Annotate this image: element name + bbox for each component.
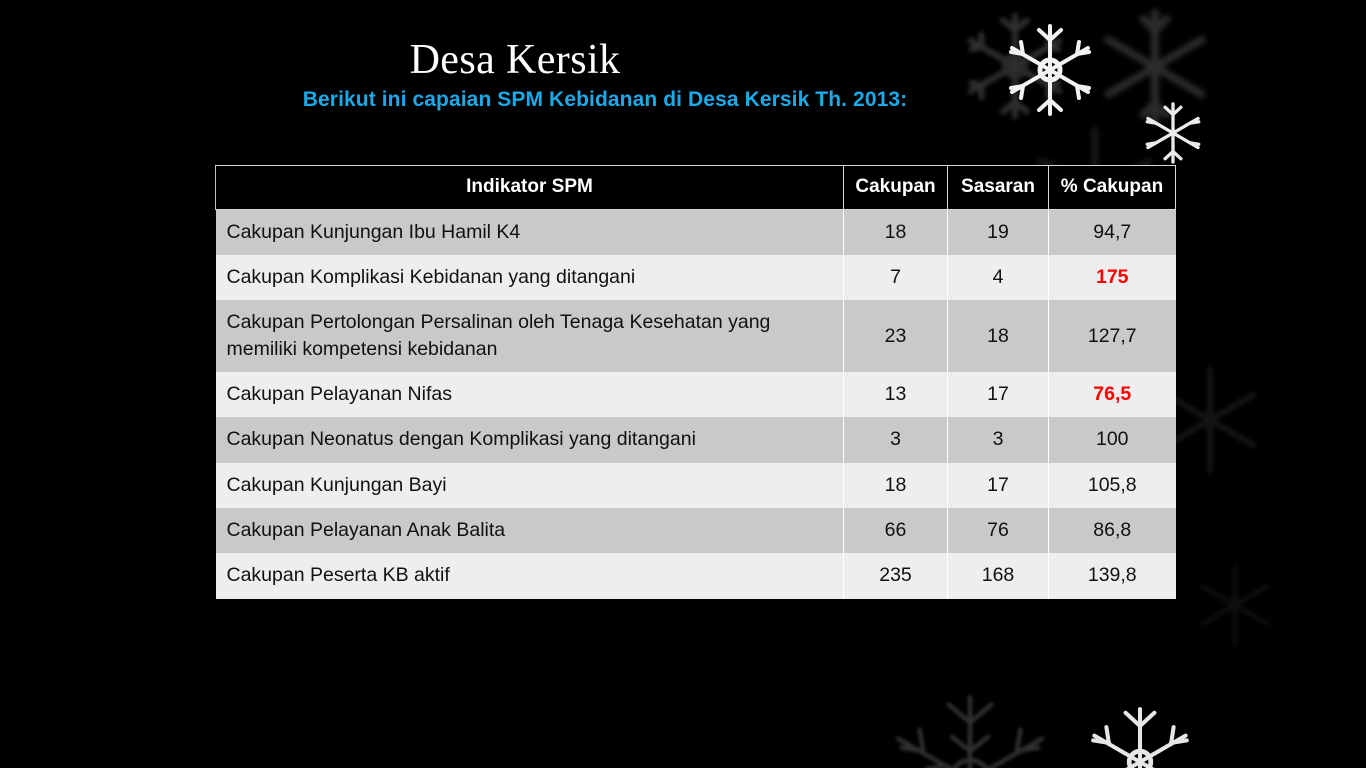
column-header-persen: % Cakupan — [1049, 166, 1176, 210]
cell-indikator: Cakupan Kunjungan Ibu Hamil K4 — [216, 209, 844, 255]
cell-sasaran: 3 — [948, 417, 1049, 462]
cell-sasaran: 18 — [948, 300, 1049, 372]
table-body: Cakupan Kunjungan Ibu Hamil K4181994,7Ca… — [216, 209, 1176, 598]
cell-cakupan: 18 — [844, 209, 948, 255]
cell-sasaran: 17 — [948, 463, 1049, 508]
table-row: Cakupan Kunjungan Ibu Hamil K4181994,7 — [216, 209, 1176, 255]
table-row: Cakupan Neonatus dengan Komplikasi yang … — [216, 417, 1176, 462]
table-row: Cakupan Peserta KB aktif235168139,8 — [216, 553, 1176, 598]
table-row: Cakupan Pelayanan Nifas131776,5 — [216, 372, 1176, 417]
cell-indikator: Cakupan Pelayanan Nifas — [216, 372, 844, 417]
cell-persen: 127,7 — [1049, 300, 1176, 372]
cell-sasaran: 4 — [948, 255, 1049, 300]
cell-persen: 76,5 — [1049, 372, 1176, 417]
cell-indikator: Cakupan Pelayanan Anak Balita — [216, 508, 844, 553]
spm-table: Indikator SPM Cakupan Sasaran % Cakupan … — [215, 165, 1176, 599]
cell-cakupan: 18 — [844, 463, 948, 508]
cell-cakupan: 66 — [844, 508, 948, 553]
cell-cakupan: 7 — [844, 255, 948, 300]
table-row: Cakupan Pertolongan Persalinan oleh Tena… — [216, 300, 1176, 372]
title-block: Desa Kersik Berikut ini capaian SPM Kebi… — [215, 38, 1175, 112]
cell-indikator: Cakupan Kunjungan Bayi — [216, 463, 844, 508]
cell-cakupan: 3 — [844, 417, 948, 462]
column-header-cakupan: Cakupan — [844, 166, 948, 210]
table-header-row: Indikator SPM Cakupan Sasaran % Cakupan — [216, 166, 1176, 210]
slide-canvas: Desa Kersik Berikut ini capaian SPM Kebi… — [0, 0, 1366, 768]
cell-sasaran: 17 — [948, 372, 1049, 417]
snowflake-icon — [880, 690, 1060, 768]
cell-persen: 105,8 — [1049, 463, 1176, 508]
page-subtitle: Berikut ini capaian SPM Kebidanan di Des… — [215, 88, 1175, 112]
cell-indikator: Cakupan Peserta KB aktif — [216, 553, 844, 598]
column-header-sasaran: Sasaran — [948, 166, 1049, 210]
snowflake-icon — [1190, 560, 1280, 650]
value-alert: 76,5 — [1093, 383, 1131, 405]
cell-cakupan: 23 — [844, 300, 948, 372]
value-alert: 175 — [1096, 266, 1129, 288]
cell-persen: 100 — [1049, 417, 1176, 462]
cell-cakupan: 235 — [844, 553, 948, 598]
cell-persen: 139,8 — [1049, 553, 1176, 598]
spm-table-container: Indikator SPM Cakupan Sasaran % Cakupan … — [215, 165, 1175, 599]
table-row: Cakupan Pelayanan Anak Balita667686,8 — [216, 508, 1176, 553]
cell-indikator: Cakupan Komplikasi Kebidanan yang ditang… — [216, 255, 844, 300]
cell-indikator: Cakupan Pertolongan Persalinan oleh Tena… — [216, 300, 844, 372]
table-row: Cakupan Kunjungan Bayi1817105,8 — [216, 463, 1176, 508]
table-header: Indikator SPM Cakupan Sasaran % Cakupan — [216, 166, 1176, 210]
page-title: Desa Kersik — [215, 38, 1175, 82]
cell-sasaran: 168 — [948, 553, 1049, 598]
cell-persen: 175 — [1049, 255, 1176, 300]
column-header-indikator: Indikator SPM — [216, 166, 844, 210]
cell-indikator: Cakupan Neonatus dengan Komplikasi yang … — [216, 417, 844, 462]
cell-sasaran: 19 — [948, 209, 1049, 255]
table-row: Cakupan Komplikasi Kebidanan yang ditang… — [216, 255, 1176, 300]
cell-cakupan: 13 — [844, 372, 948, 417]
cell-sasaran: 76 — [948, 508, 1049, 553]
cell-persen: 94,7 — [1049, 209, 1176, 255]
snowflake-icon — [1080, 702, 1200, 768]
cell-persen: 86,8 — [1049, 508, 1176, 553]
